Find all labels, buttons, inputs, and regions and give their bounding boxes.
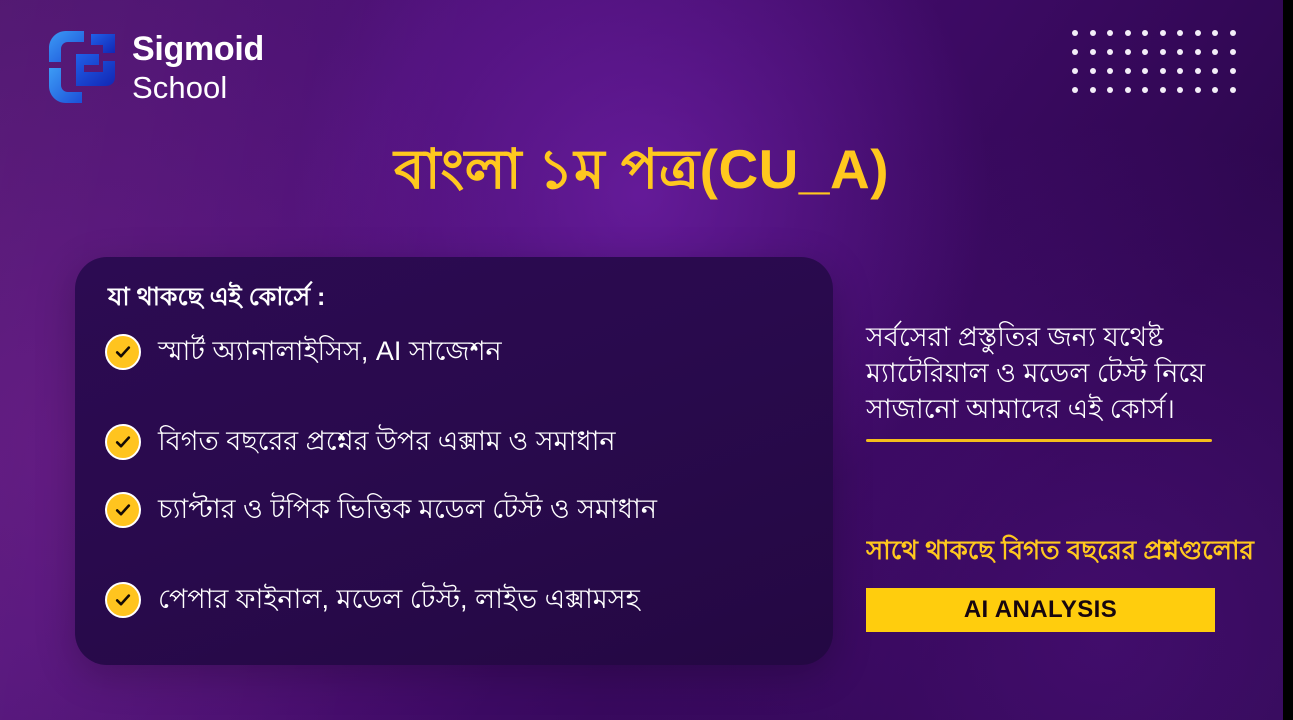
list-item: বিগত বছরের প্রশ্নের উপর এক্সাম ও সমাধান bbox=[105, 419, 815, 465]
brand-name-line2: School bbox=[132, 72, 264, 103]
promo-divider bbox=[866, 439, 1212, 442]
course-title: বাংলা ১ম পত্র(CU_A) bbox=[0, 138, 1283, 201]
feature-text: বিগত বছরের প্রশ্নের উপর এক্সাম ও সমাধান bbox=[158, 425, 616, 459]
brand-name-line1: Sigmoid bbox=[132, 32, 264, 66]
check-icon bbox=[105, 492, 141, 528]
brand-logo: Sigmoid School bbox=[46, 28, 264, 106]
list-item: চ্যাপ্টার ও টপিক ভিত্তিক মডেল টেস্ট ও সম… bbox=[105, 487, 815, 533]
features-card: যা থাকছে এই কোর্সে : স্মার্ট অ্যানালাইসি… bbox=[75, 257, 833, 665]
list-item: স্মার্ট অ্যানালাইসিস, AI সাজেশন bbox=[105, 329, 815, 375]
feature-text: পেপার ফাইনাল, মডেল টেস্ট, লাইভ এক্সামসহ bbox=[158, 583, 640, 617]
ai-analysis-button[interactable]: AI ANALYSIS bbox=[866, 588, 1215, 632]
check-icon bbox=[105, 582, 141, 618]
promo-paragraph: সর্বসেরা প্রস্তুতির জন্য যথেষ্ট ম্যাটেরি… bbox=[866, 320, 1214, 428]
features-card-heading: যা থাকছে এই কোর্সে : bbox=[108, 277, 325, 320]
sigmoid-s-logo-icon bbox=[46, 28, 118, 106]
features-list: স্মার্ট অ্যানালাইসিস, AI সাজেশন বিগত বছর… bbox=[105, 329, 815, 623]
promo-column: সর্বসেরা প্রস্তুতির জন্য যথেষ্ট ম্যাটেরি… bbox=[866, 320, 1214, 442]
check-icon bbox=[105, 424, 141, 460]
feature-text: স্মার্ট অ্যানালাইসিস, AI সাজেশন bbox=[158, 335, 502, 369]
promo-highlight-text: সাথে থাকছে বিগত বছরের প্রশ্নগুলোর bbox=[866, 534, 1286, 567]
check-icon bbox=[105, 334, 141, 370]
list-item: পেপার ফাইনাল, মডেল টেস্ট, লাইভ এক্সামসহ bbox=[105, 577, 815, 623]
promo-banner: Sigmoid School বাংলা ১ম পত্র(CU_A) যা থা… bbox=[0, 0, 1293, 720]
right-black-strip bbox=[1283, 0, 1293, 720]
feature-text: চ্যাপ্টার ও টপিক ভিত্তিক মডেল টেস্ট ও সম… bbox=[158, 493, 657, 527]
brand-name: Sigmoid School bbox=[132, 32, 264, 103]
dot-grid-decoration bbox=[1072, 30, 1247, 106]
